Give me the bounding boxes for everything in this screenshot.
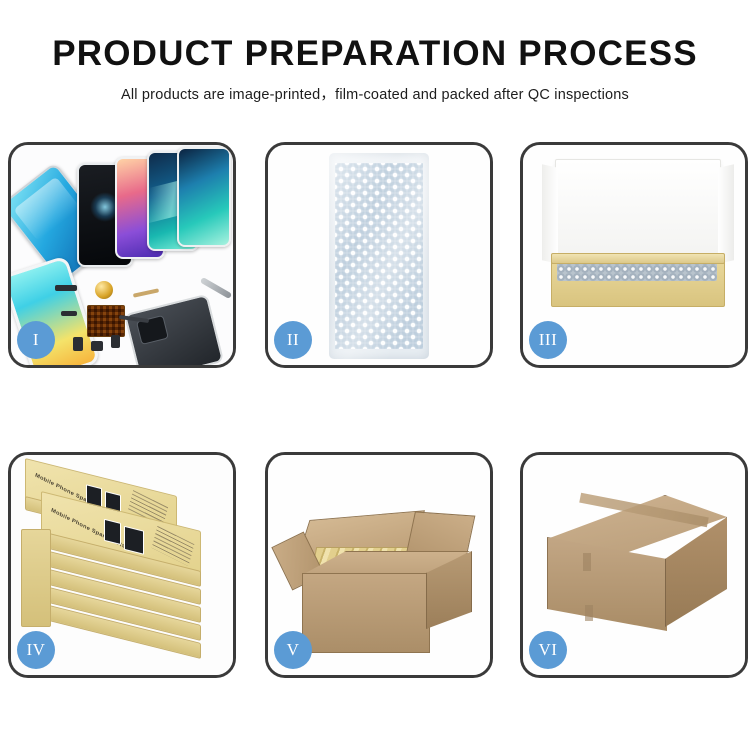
step-badge-1: I [17,321,55,359]
steps-grid: I II III [8,142,746,682]
plastic-sheen-highlight [329,153,429,359]
sim-tray-part-icon [73,337,83,351]
sealed-carton-front-face [547,537,669,633]
step-panel-1: I [8,142,236,368]
step-badge-2: II [274,321,312,359]
step-panel-5: V [265,452,493,678]
carton-handle-seam-bottom [585,605,593,621]
amber-gradient-phone-image [177,147,231,247]
step-panel-3: III [520,142,748,368]
connector-board-part-icon [87,305,125,337]
speaker-part-icon [55,285,77,291]
step-badge-4: IV [17,631,55,669]
vibration-motor-part-icon [95,281,113,299]
camera-module-part-icon [91,341,103,351]
step-badge-6: VI [529,631,567,669]
step-panel-4: Mobile Phone Spare Parts Mobile Phone Sp… [8,452,236,678]
header: PRODUCT PREPARATION PROCESS All products… [0,0,750,104]
page-subtitle: All products are image-printed，film-coat… [0,73,750,104]
box-screen-image-2a [104,519,121,545]
bubble-wrap-sleeve [329,153,429,359]
box-tray-lip [551,253,725,264]
step-badge-3: III [529,321,567,359]
phone-back-housing-image [124,294,224,365]
carton-handle-seam-top [583,553,591,571]
step-panel-6: VI [520,452,748,678]
step-panel-2: II [265,142,493,368]
battery-part-icon [111,335,120,348]
flex-cable-part-icon [133,288,159,297]
page-title: PRODUCT PREPARATION PROCESS [0,0,750,73]
product-preparation-infographic: PRODUCT PREPARATION PROCESS All products… [0,0,750,750]
step-badge-5: V [274,631,312,669]
box-screen-image-2b [124,526,144,555]
carton-front-face [302,573,430,653]
screw-set-part-icon [61,311,77,316]
stacked-box-left-face [21,529,51,627]
